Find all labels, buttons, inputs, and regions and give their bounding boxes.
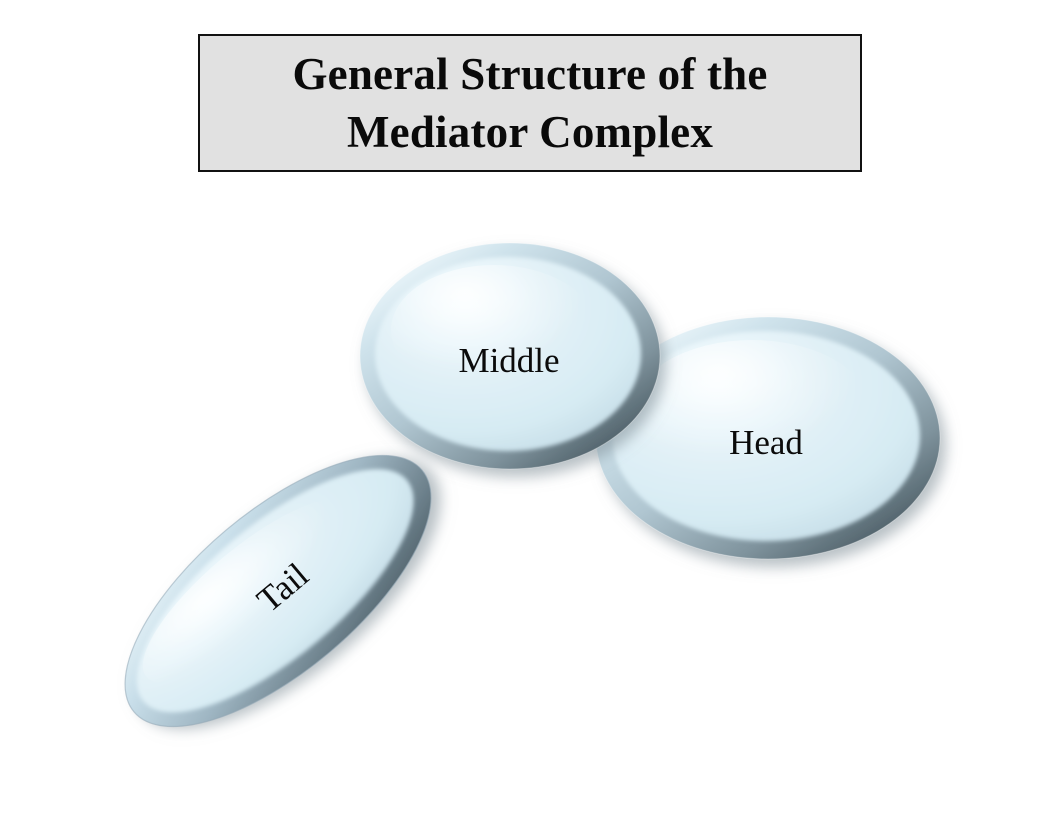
shapes-svg [0,0,1037,825]
shape-head-sheen [632,340,872,484]
shape-middle-sheen [391,265,597,395]
shape-tail[interactable] [83,409,474,773]
diagram-canvas: General Structure of the Mediator Comple… [0,0,1037,825]
mediator-complex-shapes [0,0,1037,825]
shape-middle[interactable] [360,243,660,469]
